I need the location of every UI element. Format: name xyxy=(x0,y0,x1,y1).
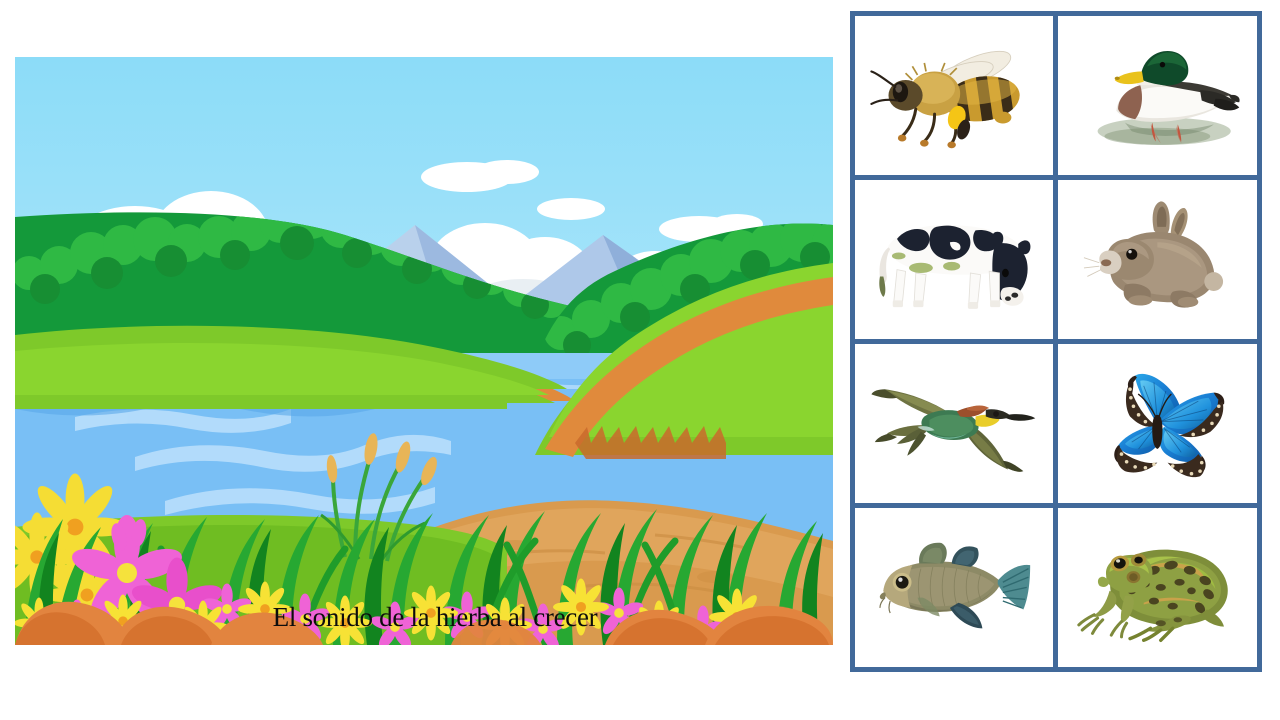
grazing-cow-photo xyxy=(868,191,1039,328)
grid-cell-cow[interactable] xyxy=(850,175,1059,344)
blue-morpho-butterfly-photo xyxy=(1072,355,1243,492)
grid-cell-butterfly[interactable] xyxy=(1053,339,1262,508)
scene-caption: El sonido de la hierba al crecer xyxy=(225,602,645,633)
bee-eater-bird-photo xyxy=(868,355,1039,492)
grid-cell-honeybee[interactable] xyxy=(850,11,1059,180)
animal-picture-grid xyxy=(852,13,1259,669)
river-landscape-image: El sonido de la hierba al crecer xyxy=(15,57,833,645)
foreground-grass-flowers-layer xyxy=(15,57,833,645)
green-frog-photo xyxy=(1072,519,1243,656)
honeybee-photo xyxy=(868,27,1039,164)
grid-cell-duck[interactable] xyxy=(1053,11,1262,180)
grid-cell-bee-eater-bird[interactable] xyxy=(850,339,1059,508)
mallard-duck-photo xyxy=(1072,27,1243,164)
grid-cell-frog[interactable] xyxy=(1053,503,1262,672)
rabbit-photo xyxy=(1072,191,1243,328)
slide-canvas: El sonido de la hierba al crecer xyxy=(0,0,1280,720)
grid-cell-rabbit[interactable] xyxy=(1053,175,1262,344)
fish-photo xyxy=(868,519,1039,656)
grid-cell-fish[interactable] xyxy=(850,503,1059,672)
